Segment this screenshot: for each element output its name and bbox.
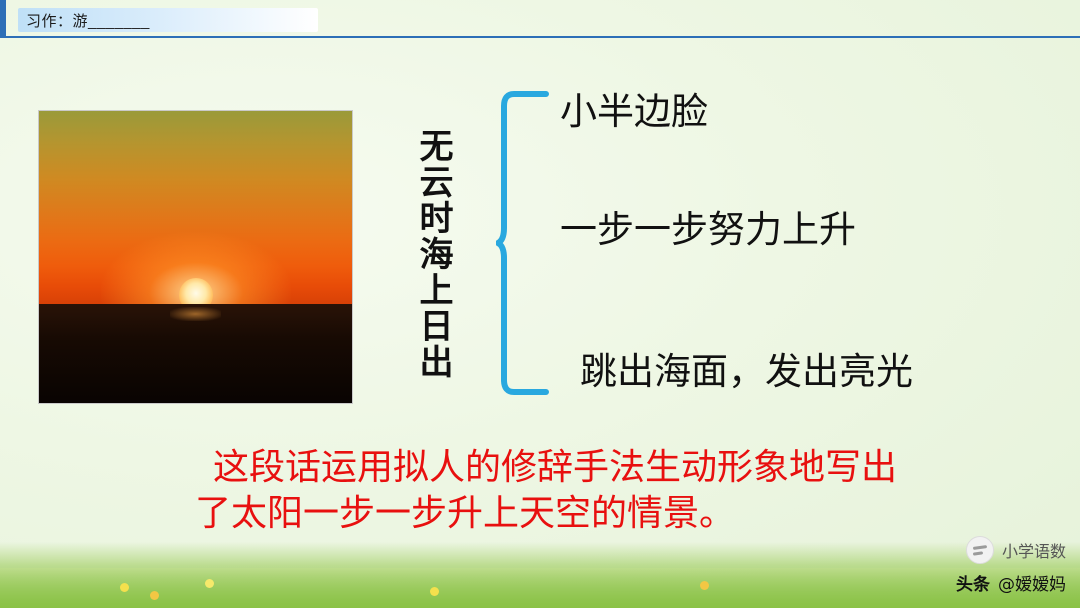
header-underline	[0, 36, 1080, 38]
header-left-accent	[0, 0, 6, 38]
vertical-topic-title: 无云时海上日出	[392, 128, 450, 380]
watermark-platform: 头条 @嫒嫒妈	[956, 570, 1066, 595]
branch-item-2: 一步一步努力上升	[560, 210, 856, 251]
summary-line-2: 了太阳一步一步升上天空的情景。	[0, 491, 1080, 537]
summary-line-1: 这段话运用拟人的修辞手法生动形象地写出	[0, 445, 1080, 491]
flower-dot	[700, 581, 709, 590]
branch-item-1: 小半边脸	[560, 92, 708, 133]
left-curly-brace-icon	[496, 88, 556, 398]
summary-text: 这段话运用拟人的修辞手法生动形象地写出 了太阳一步一步升上天空的情景。	[0, 445, 1080, 537]
flower-dot	[430, 587, 439, 596]
photo-sun-reflection	[170, 307, 220, 322]
account-avatar-icon	[966, 536, 994, 564]
grass-decoration-front	[0, 568, 1080, 608]
watermark-handle: @嫒嫒妈	[998, 570, 1066, 595]
flower-dot	[205, 579, 214, 588]
slide-header: 习作：游_______	[0, 0, 1080, 40]
watermark-account-name: 小学语数	[1002, 538, 1066, 562]
page-title: 习作：游_______	[26, 10, 150, 31]
watermark-platform-label: 头条	[956, 570, 990, 595]
watermark-account: 小学语数	[966, 536, 1066, 564]
flower-dot	[150, 591, 159, 600]
branch-item-3: 跳出海面，发出亮光	[580, 352, 913, 393]
sunrise-photo	[38, 110, 353, 404]
flower-dot	[120, 583, 129, 592]
slide: 习作：游_______ 无云时海上日出 小半边脸 一步一步努力上升 跳出海面，发…	[0, 0, 1080, 608]
